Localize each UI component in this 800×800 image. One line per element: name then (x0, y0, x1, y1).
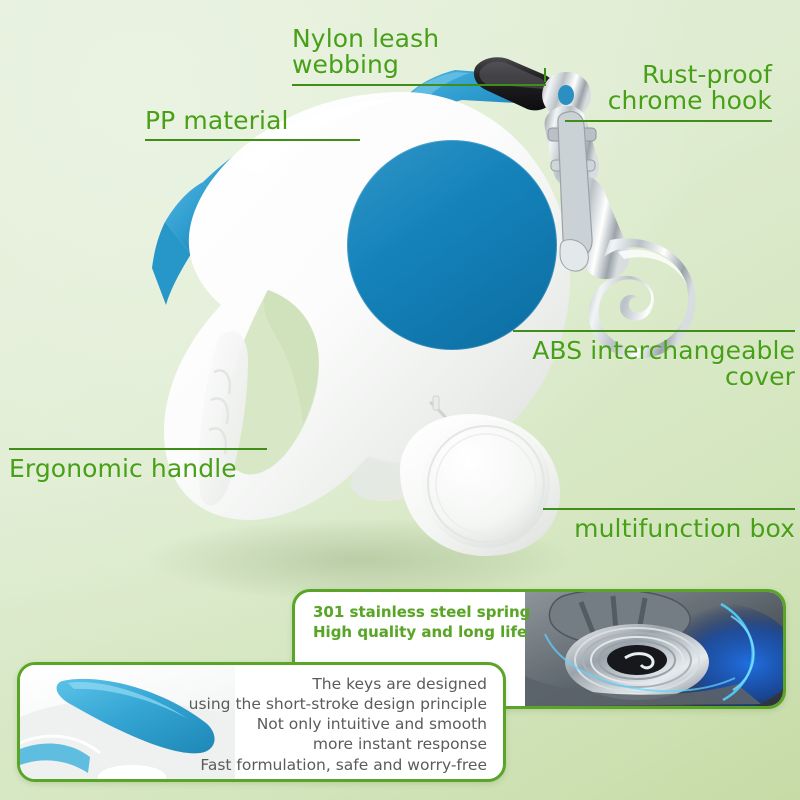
keys-feature-card: The keys are designed using the short-st… (17, 662, 506, 782)
keys-card-text: The keys are designed using the short-st… (189, 674, 487, 775)
infographic-canvas: Nylon leash webbing Rust-proof chrome ho… (0, 0, 800, 800)
callout-ergonomic-handle: Ergonomic handle (9, 448, 267, 482)
callout-pp-material: PP material (145, 108, 360, 141)
spring-photo (525, 592, 783, 706)
callout-rule-ergonomic-handle (9, 448, 267, 450)
callout-rule-abs-interchangeable-cover (513, 330, 795, 332)
callout-label-rust-proof-chrome-hook: Rust-proof chrome hook (565, 62, 772, 115)
callout-rule-rust-proof-chrome-hook (565, 120, 772, 122)
multifunction-box-cap (422, 420, 550, 548)
callout-leader-nylon-leash-webbing (544, 68, 546, 82)
callout-rule-nylon-leash-webbing (292, 84, 546, 86)
callout-rule-multifunction-box (543, 508, 795, 510)
callout-nylon-leash-webbing: Nylon leash webbing (292, 26, 546, 86)
callout-label-pp-material: PP material (145, 108, 360, 134)
spring-card-text: 301 stainless steel spring High quality … (313, 603, 530, 643)
callout-rust-proof-chrome-hook: Rust-proof chrome hook (565, 62, 772, 122)
callout-label-ergonomic-handle: Ergonomic handle (9, 456, 267, 482)
callout-rule-pp-material (145, 139, 360, 141)
callout-label-abs-interchangeable-cover: ABS interchangeable cover (513, 338, 795, 391)
callout-abs-interchangeable-cover: ABS interchangeable cover (513, 330, 795, 391)
blue-side-cover-disc (347, 140, 557, 350)
callout-multifunction-box: multifunction box (543, 508, 795, 542)
hook-bow-highlight (618, 250, 688, 288)
callout-label-nylon-leash-webbing: Nylon leash webbing (292, 26, 546, 79)
callout-label-multifunction-box: multifunction box (543, 516, 795, 542)
seam-latch (433, 396, 439, 410)
spring-coil-core (607, 645, 667, 675)
